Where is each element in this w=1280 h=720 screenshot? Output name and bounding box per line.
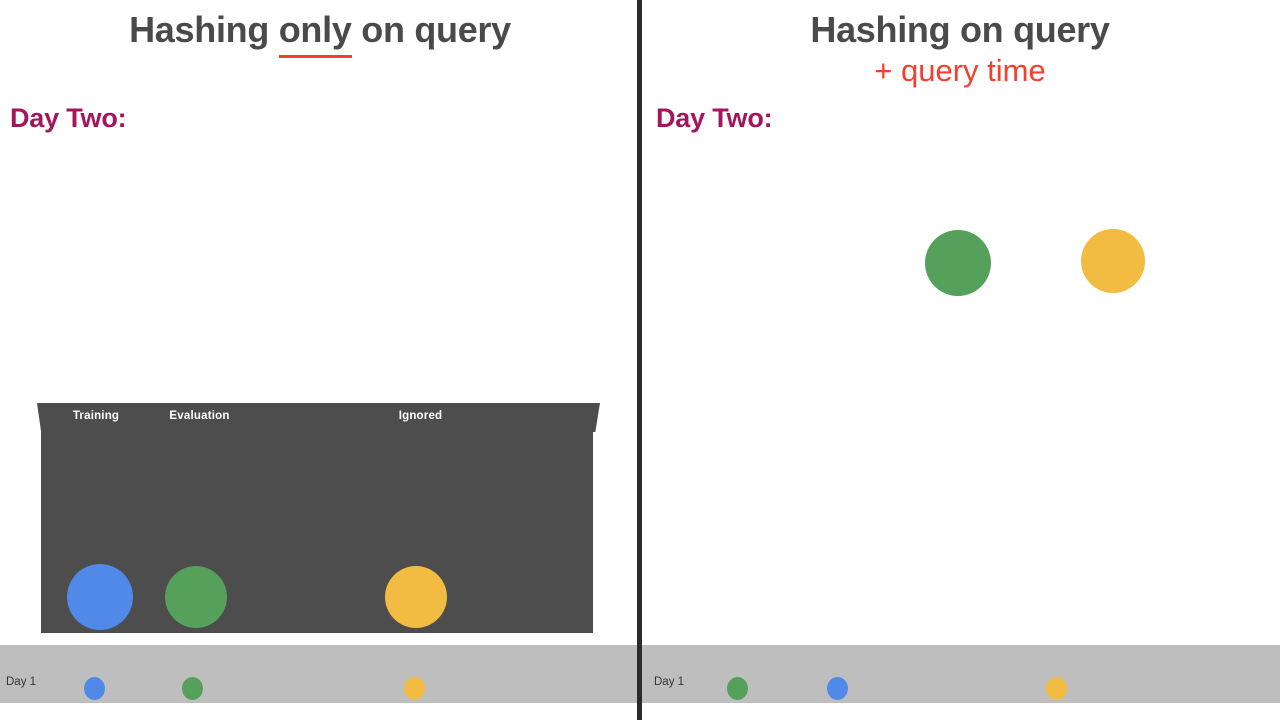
bin-tab-training[interactable]: Training [37, 403, 155, 432]
panel-left-title-block: Hashing only on query [0, 8, 640, 52]
timeline-day-label: Day 1 [654, 675, 684, 689]
panel-right-title-block: Hashing on query + query time [640, 8, 1280, 90]
title-suffix: on query [352, 9, 511, 50]
title-prefix: Hashing [129, 9, 279, 50]
timeline-dot-yellow[interactable] [1046, 677, 1067, 700]
timeline-dot-green[interactable] [182, 677, 203, 700]
panel-right-timeline: Day 1 [640, 645, 1280, 703]
bin-tab-ignored[interactable]: Ignored [241, 403, 600, 432]
bin-tab-evaluation[interactable]: Evaluation [144, 403, 255, 432]
panel-divider [637, 0, 642, 720]
panel-left: Hashing only on query Day Two: Training … [0, 0, 640, 720]
bin-tab-ignored-label: Ignored [399, 410, 443, 422]
bin-tab-evaluation-label: Evaluation [169, 410, 229, 422]
title-prefix: Hashing on query [810, 9, 1109, 50]
panel-right-subtitle: + query time [640, 52, 1280, 90]
timeline-dot-green[interactable] [727, 677, 748, 700]
token-blue[interactable] [67, 564, 133, 630]
panel-right-title: Hashing on query [810, 8, 1109, 52]
panel-left-title: Hashing only on query [129, 8, 511, 52]
bin-tab-training-label: Training [73, 410, 119, 422]
floating-token-green[interactable] [925, 230, 991, 296]
panel-left-timeline: Day 1 [0, 645, 640, 703]
token-yellow[interactable] [385, 566, 447, 628]
panel-left-day-heading: Day Two: [10, 103, 126, 134]
token-green[interactable] [165, 566, 227, 628]
timeline-day-label: Day 1 [6, 675, 36, 689]
panel-right: Hashing on query + query time Day Two: T… [640, 0, 1280, 720]
timeline-dot-blue[interactable] [84, 677, 105, 700]
timeline-dot-blue[interactable] [827, 677, 848, 700]
panel-right-day-heading: Day Two: [656, 103, 772, 134]
slide-canvas: Hashing only on query Day Two: Training … [0, 0, 1280, 720]
title-underlined-word: only [279, 8, 352, 52]
timeline-dot-yellow[interactable] [404, 677, 425, 700]
floating-token-yellow[interactable] [1081, 229, 1145, 293]
